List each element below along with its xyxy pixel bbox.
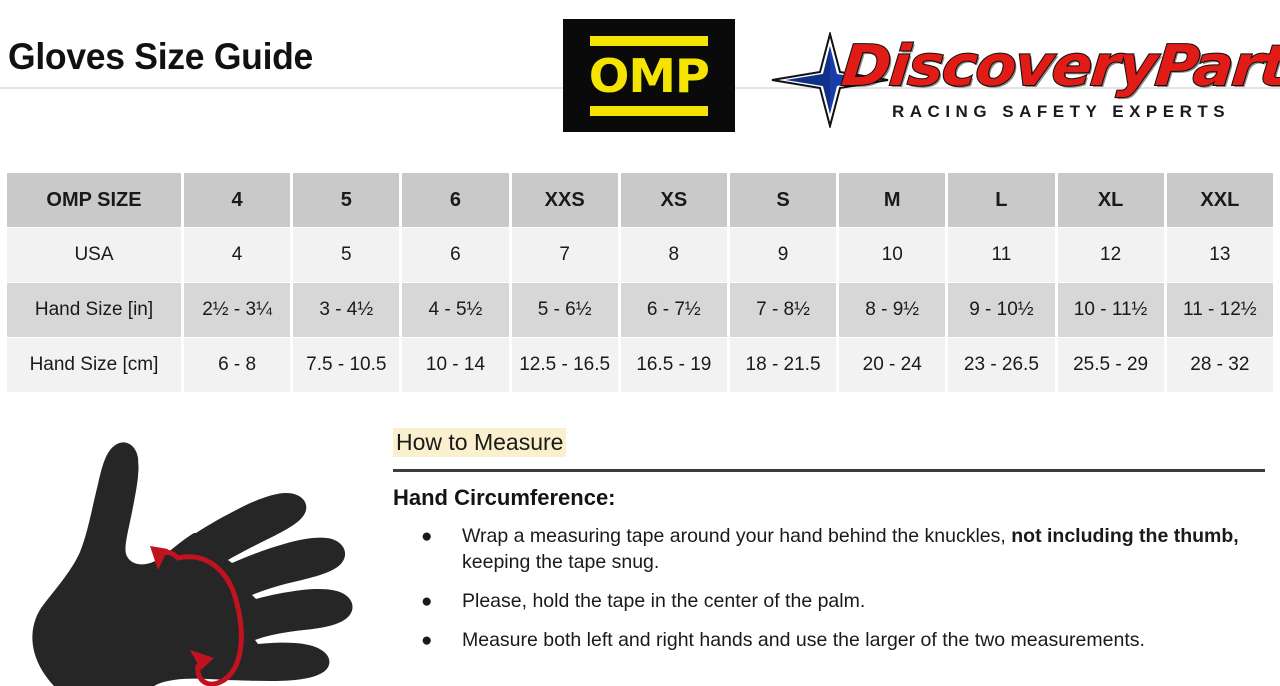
bullet-icon: ● bbox=[421, 524, 432, 549]
table-cell: S bbox=[730, 173, 836, 227]
table-cell: M bbox=[839, 173, 945, 227]
list-item: ● Wrap a measuring tape around your hand… bbox=[393, 524, 1273, 576]
row-header-cell: Hand Size [in] bbox=[7, 283, 181, 337]
omp-logo-text: OMP bbox=[589, 53, 709, 99]
list-item: ● Measure both left and right hands and … bbox=[393, 628, 1273, 654]
discoveryparts-tagline: RACING SAFETY EXPERTS bbox=[892, 102, 1230, 122]
table-cell: 2½ - 3¼ bbox=[184, 283, 290, 337]
discoveryparts-logo: DiscoveryParts RACING SAFETY EXPERTS bbox=[770, 28, 1270, 134]
hand-circumference-subheading: Hand Circumference: bbox=[393, 485, 1273, 511]
row-header-cell: USA bbox=[7, 228, 181, 282]
omp-logo-bar-top bbox=[590, 36, 708, 46]
table-cell: 5 - 6½ bbox=[512, 283, 618, 337]
table-cell: 16.5 - 19 bbox=[621, 338, 727, 392]
table-row: USA 4 5 6 7 8 9 10 11 12 13 bbox=[7, 228, 1273, 282]
table-cell: 8 bbox=[621, 228, 727, 282]
table-cell: 20 - 24 bbox=[839, 338, 945, 392]
how-to-measure-heading: How to Measure bbox=[393, 428, 566, 457]
table-cell: L bbox=[948, 173, 1054, 227]
table-cell: XXS bbox=[512, 173, 618, 227]
gloves-size-table: OMP SIZE 4 5 6 XXS XS S M L XL XXL USA 4… bbox=[4, 172, 1276, 393]
how-to-measure-section: How to Measure Hand Circumference: ● Wra… bbox=[393, 428, 1273, 667]
table-cell: 9 bbox=[730, 228, 836, 282]
table-cell: 6 bbox=[402, 228, 508, 282]
table-cell: 6 - 8 bbox=[184, 338, 290, 392]
omp-logo: OMP bbox=[563, 19, 735, 132]
row-header-cell: OMP SIZE bbox=[7, 173, 181, 227]
discoveryparts-logo-text: DiscoveryParts bbox=[839, 34, 1280, 99]
hand-measurement-illustration bbox=[10, 400, 390, 686]
page-title: Gloves Size Guide bbox=[8, 36, 313, 78]
table-cell: 7.5 - 10.5 bbox=[293, 338, 399, 392]
table-cell: 7 - 8½ bbox=[730, 283, 836, 337]
page-header: Gloves Size Guide OMP DiscoveryParts RAC… bbox=[0, 0, 1280, 140]
table-cell: XXL bbox=[1167, 173, 1273, 227]
hand-silhouette-icon bbox=[32, 442, 352, 686]
table-cell: 10 - 11½ bbox=[1058, 283, 1164, 337]
instruction-text-bold: not including the thumb, bbox=[1011, 525, 1238, 547]
table-cell: 11 - 12½ bbox=[1167, 283, 1273, 337]
table-cell: 12.5 - 16.5 bbox=[512, 338, 618, 392]
table-cell: XS bbox=[621, 173, 727, 227]
list-item: ● Please, hold the tape in the center of… bbox=[393, 589, 1273, 615]
omp-logo-bar-bottom bbox=[590, 106, 708, 116]
table-cell: 23 - 26.5 bbox=[948, 338, 1054, 392]
table-cell: 5 bbox=[293, 173, 399, 227]
table-cell: 12 bbox=[1058, 228, 1164, 282]
instruction-text-part1: Please, hold the tape in the center of t… bbox=[462, 590, 865, 612]
table-row: Hand Size [in] 2½ - 3¼ 3 - 4½ 4 - 5½ 5 -… bbox=[7, 283, 1273, 337]
row-header-cell: Hand Size [cm] bbox=[7, 338, 181, 392]
section-divider bbox=[393, 469, 1265, 472]
table-cell: 3 - 4½ bbox=[293, 283, 399, 337]
table-cell: 10 bbox=[839, 228, 945, 282]
size-table-body: OMP SIZE 4 5 6 XXS XS S M L XL XXL USA 4… bbox=[7, 173, 1273, 392]
table-cell: 18 - 21.5 bbox=[730, 338, 836, 392]
table-cell: 6 bbox=[402, 173, 508, 227]
size-guide-page: Gloves Size Guide OMP DiscoveryParts RAC… bbox=[0, 0, 1280, 686]
bullet-icon: ● bbox=[421, 628, 432, 653]
table-cell: 11 bbox=[948, 228, 1054, 282]
table-cell: 6 - 7½ bbox=[621, 283, 727, 337]
table-cell: 10 - 14 bbox=[402, 338, 508, 392]
measurement-instructions-list: ● Wrap a measuring tape around your hand… bbox=[393, 524, 1273, 654]
table-cell: 7 bbox=[512, 228, 618, 282]
instruction-text-part2: keeping the tape snug. bbox=[462, 551, 659, 573]
table-row: OMP SIZE 4 5 6 XXS XS S M L XL XXL bbox=[7, 173, 1273, 227]
table-cell: 25.5 - 29 bbox=[1058, 338, 1164, 392]
instruction-text-part1: Measure both left and right hands and us… bbox=[462, 629, 1145, 651]
table-cell: 5 bbox=[293, 228, 399, 282]
table-cell: 4 bbox=[184, 173, 290, 227]
table-row: Hand Size [cm] 6 - 8 7.5 - 10.5 10 - 14 … bbox=[7, 338, 1273, 392]
table-cell: XL bbox=[1058, 173, 1164, 227]
table-cell: 4 bbox=[184, 228, 290, 282]
bullet-icon: ● bbox=[421, 589, 432, 614]
instruction-text-part1: Wrap a measuring tape around your hand b… bbox=[462, 525, 1011, 547]
table-cell: 9 - 10½ bbox=[948, 283, 1054, 337]
table-cell: 8 - 9½ bbox=[839, 283, 945, 337]
table-cell: 4 - 5½ bbox=[402, 283, 508, 337]
table-cell: 28 - 32 bbox=[1167, 338, 1273, 392]
table-cell: 13 bbox=[1167, 228, 1273, 282]
